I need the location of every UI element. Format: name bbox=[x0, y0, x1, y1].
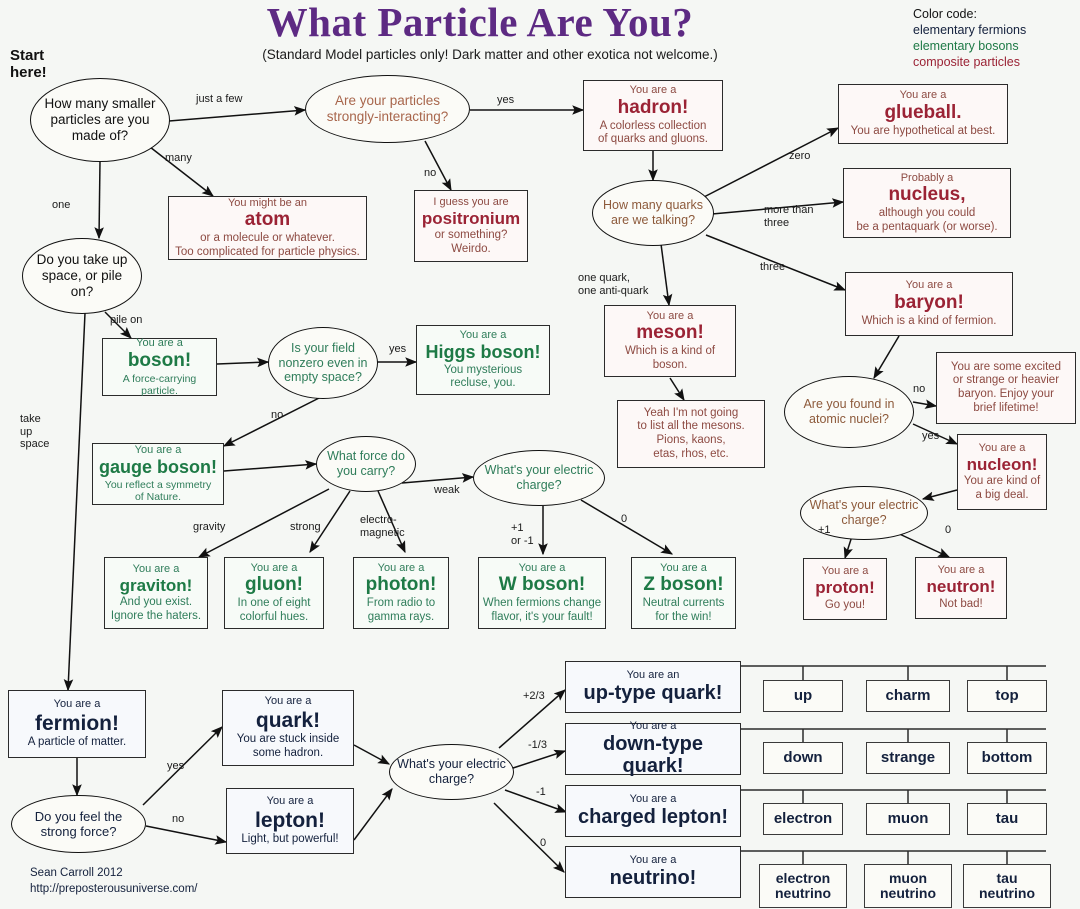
outcome-w-boson-pre: You are a bbox=[519, 562, 566, 575]
legend-item-composite-particles: composite particles bbox=[913, 54, 1026, 70]
outcome-neutron-post: Not bad! bbox=[939, 598, 982, 612]
particle-tau-neutrino-label: tauneutrino bbox=[979, 871, 1035, 902]
outcome-quark[interactable]: You are a quark! You are stuck inside so… bbox=[222, 690, 354, 766]
outcome-w-boson-title: W boson! bbox=[499, 575, 586, 596]
legend-heading: Color code: bbox=[913, 6, 1026, 22]
outcome-baryon-post: Which is a kind of fermion. bbox=[862, 315, 997, 329]
outcome-gauge-boson-pre: You are a bbox=[135, 444, 182, 457]
edge-label-charge-zero-neutrino: 0 bbox=[540, 837, 546, 850]
particle-muon-neutrino-label: muonneutrino bbox=[880, 871, 936, 902]
outcome-neutrino-pre: You are a bbox=[630, 854, 677, 867]
particle-muon-neutrino[interactable]: muonneutrino bbox=[864, 864, 952, 908]
outcome-baryon[interactable]: You are a baryon! Which is a kind of fer… bbox=[845, 272, 1013, 336]
decision-what-force[interactable]: What force do you carry? bbox=[316, 436, 416, 492]
page-title: What Particle Are You? bbox=[150, 0, 810, 46]
outcome-nucleon-pre: You are a bbox=[979, 442, 1026, 455]
outcome-proton-post: Go you! bbox=[825, 599, 865, 613]
outcome-boson-pre: You are a bbox=[136, 337, 183, 350]
outcome-gauge-boson-title: gauge boson! bbox=[99, 458, 217, 478]
outcome-photon-pre: You are a bbox=[378, 562, 425, 575]
outcome-z-boson-title: Z boson! bbox=[643, 575, 723, 596]
outcome-boson-title: boson! bbox=[128, 351, 191, 372]
edge-label-strong: strong bbox=[290, 521, 321, 534]
decision-fermion-electric-charge[interactable]: What's your electric charge? bbox=[389, 744, 514, 800]
outcome-down-type-quark-pre: You are a bbox=[630, 720, 677, 733]
edge-label-charge-zero-boson: 0 bbox=[621, 513, 627, 526]
outcome-charged-lepton-title: charged lepton! bbox=[578, 806, 728, 828]
particle-muon[interactable]: muon bbox=[866, 803, 950, 835]
credit-author: Sean Carroll 2012 bbox=[30, 866, 197, 882]
outcome-w-boson-post: When fermions change flavor, it's your f… bbox=[483, 597, 601, 624]
outcome-nucleus-title: nucleus, bbox=[888, 185, 965, 206]
outcome-nucleus-post: although you could be a pentaquark (or w… bbox=[856, 207, 997, 234]
particle-bottom[interactable]: bottom bbox=[967, 742, 1047, 774]
outcome-proton-pre: You are a bbox=[822, 565, 869, 578]
edge-label-yes-nuclei: yes bbox=[922, 430, 939, 443]
edge-label-no-lepton: no bbox=[172, 813, 184, 826]
outcome-higgs-boson-title: Higgs boson! bbox=[426, 343, 541, 363]
outcome-higgs-boson[interactable]: You are a Higgs boson! You mysterious re… bbox=[416, 325, 550, 395]
decision-take-up-space-label: Do you take up space, or pile on? bbox=[23, 252, 141, 300]
decision-boson-electric-charge-label: What's your electric charge? bbox=[474, 463, 604, 493]
outcome-excited-baryon-text: You are some excited or strange or heavi… bbox=[951, 361, 1061, 415]
credit-block: Sean Carroll 2012 http://preposterousuni… bbox=[30, 866, 197, 897]
edge-label-charge-up-type: +2/3 bbox=[523, 690, 545, 703]
outcome-up-type-quark[interactable]: You are an up-type quark! bbox=[565, 661, 741, 713]
outcome-gluon-post: In one of eight colorful hues. bbox=[238, 597, 311, 624]
outcome-photon-post: From radio to gamma rays. bbox=[367, 597, 435, 624]
outcome-quark-title: quark! bbox=[256, 709, 320, 732]
outcome-quark-post: You are stuck inside some hadron. bbox=[237, 733, 340, 760]
particle-electron-neutrino[interactable]: electronneutrino bbox=[759, 864, 847, 908]
particle-top[interactable]: top bbox=[967, 680, 1047, 712]
decision-how-many-quarks-label: How many quarks are we talking? bbox=[593, 198, 713, 228]
edge-label-many: many bbox=[165, 152, 192, 165]
outcome-excited-baryon[interactable]: You are some excited or strange or heavi… bbox=[936, 352, 1076, 424]
decision-strongly-interacting[interactable]: Are your particles strongly-interacting? bbox=[305, 75, 470, 143]
particle-strange[interactable]: strange bbox=[866, 742, 950, 774]
outcome-positronium-title: positronium bbox=[422, 210, 520, 229]
outcome-gauge-boson[interactable]: You are a gauge boson! You reflect a sym… bbox=[92, 443, 224, 505]
outcome-lepton[interactable]: You are a lepton! Light, but powerful! bbox=[226, 788, 354, 854]
edge-label-yes-higgs: yes bbox=[389, 343, 406, 356]
outcome-meson-post: Which is a kind of boson. bbox=[609, 345, 731, 372]
decision-field-nonzero-label: Is your field nonzero even in empty spac… bbox=[269, 341, 377, 385]
outcome-boson-post: A force-carrying particle. bbox=[107, 373, 212, 398]
legend-item-elementary-bosons: elementary bosons bbox=[913, 38, 1026, 54]
outcome-up-type-quark-pre: You are an bbox=[627, 669, 680, 682]
outcome-atom-title: atom bbox=[245, 210, 290, 231]
outcome-gauge-boson-post: You reflect a symmetry of Nature. bbox=[105, 479, 211, 504]
outcome-gluon-title: gluon! bbox=[245, 575, 303, 596]
outcome-meson-title: meson! bbox=[636, 323, 704, 344]
decision-strong-force[interactable]: Do you feel the strong force? bbox=[11, 795, 146, 853]
outcome-hadron-title: hadron! bbox=[618, 98, 689, 119]
outcome-hadron-post: A colorless collection of quarks and glu… bbox=[598, 120, 708, 147]
outcome-graviton-post: And you exist. Ignore the haters. bbox=[111, 596, 201, 623]
edge-label-yes-strongly-interacting: yes bbox=[497, 94, 514, 107]
edge-label-yes-quark: yes bbox=[167, 760, 184, 773]
outcome-z-boson[interactable]: You are a Z boson! Neutral currents for … bbox=[631, 557, 736, 629]
outcome-fermion-pre: You are a bbox=[54, 698, 101, 711]
decision-how-many-smaller-particles[interactable]: How many smaller particles are you made … bbox=[30, 78, 170, 162]
outcome-down-type-quark[interactable]: You are a down-type quark! bbox=[565, 723, 741, 775]
outcome-baryon-title: baryon! bbox=[894, 293, 964, 314]
outcome-gluon[interactable]: You are a gluon! In one of eight colorfu… bbox=[224, 557, 324, 629]
outcome-z-boson-post: Neutral currents for the win! bbox=[643, 597, 725, 624]
outcome-w-boson[interactable]: You are a W boson! When fermions change … bbox=[478, 557, 606, 629]
outcome-meson[interactable]: You are a meson! Which is a kind of boso… bbox=[604, 305, 736, 377]
decision-strong-force-label: Do you feel the strong force? bbox=[12, 809, 145, 840]
outcome-hadron[interactable]: You are a hadron! A colorless collection… bbox=[583, 80, 723, 151]
edge-label-charge-down-type: -1/3 bbox=[528, 739, 547, 752]
outcome-graviton-pre: You are a bbox=[133, 563, 180, 576]
outcome-nucleon-post: You are kind of a big deal. bbox=[964, 475, 1040, 502]
outcome-neutron-pre: You are a bbox=[938, 564, 985, 577]
outcome-glueball-title: glueball. bbox=[884, 103, 961, 124]
edge-label-zero-quarks: zero bbox=[789, 150, 810, 163]
outcome-graviton-title: graviton! bbox=[120, 577, 193, 596]
outcome-lepton-pre: You are a bbox=[267, 795, 314, 808]
decision-field-nonzero[interactable]: Is your field nonzero even in empty spac… bbox=[268, 327, 378, 399]
legend: Color code: elementary fermions elementa… bbox=[913, 6, 1026, 70]
outcome-nucleus-pre: Probably a bbox=[901, 172, 954, 185]
outcome-higgs-boson-post: You mysterious recluse, you. bbox=[444, 364, 522, 391]
outcome-neutron[interactable]: You are a neutron! Not bad! bbox=[915, 557, 1007, 619]
particle-down[interactable]: down bbox=[763, 742, 843, 774]
outcome-positronium-pre: I guess you are bbox=[433, 196, 508, 209]
particle-tau-neutrino[interactable]: tauneutrino bbox=[963, 864, 1051, 908]
outcome-atom[interactable]: You might be an atom or a molecule or wh… bbox=[168, 196, 367, 260]
outcome-hadron-pre: You are a bbox=[630, 84, 677, 97]
outcome-meson-pre: You are a bbox=[647, 310, 694, 323]
edge-label-electromagnetic: electro- magnetic bbox=[360, 514, 405, 539]
page-subtitle: (Standard Model particles only! Dark mat… bbox=[150, 47, 830, 62]
edge-label-weak: weak bbox=[434, 484, 460, 497]
outcome-gluon-pre: You are a bbox=[251, 562, 298, 575]
edge-label-just-a-few: just a few bbox=[196, 93, 242, 106]
outcome-photon-title: photon! bbox=[366, 575, 437, 596]
edge-label-charge-plus-minus-1: +1 or -1 bbox=[511, 522, 534, 547]
outcome-glueball-post: You are hypothetical at best. bbox=[851, 125, 996, 139]
particle-up[interactable]: up bbox=[763, 680, 843, 712]
outcome-fermion-title: fermion! bbox=[35, 712, 119, 735]
outcome-charged-lepton-pre: You are a bbox=[630, 793, 677, 806]
edge-label-three: three bbox=[760, 261, 785, 274]
edge-label-gravity: gravity bbox=[193, 521, 225, 534]
credit-url[interactable]: http://preposterousuniverse.com/ bbox=[30, 882, 197, 898]
particle-electron-neutrino-label: electronneutrino bbox=[775, 871, 831, 902]
outcome-lepton-post: Light, but powerful! bbox=[241, 833, 338, 847]
outcome-neutrino-title: neutrino! bbox=[610, 867, 697, 889]
decision-what-force-label: What force do you carry? bbox=[317, 449, 415, 479]
outcome-nucleus[interactable]: Probably a nucleus, although you could b… bbox=[843, 168, 1011, 238]
edge-label-charge-plus-1: +1 bbox=[818, 524, 831, 537]
particle-electron[interactable]: electron bbox=[763, 803, 843, 835]
outcome-proton-title: proton! bbox=[815, 579, 874, 598]
outcome-fermion[interactable]: You are a fermion! A particle of matter. bbox=[8, 690, 146, 758]
outcome-neutrino[interactable]: You are a neutrino! bbox=[565, 846, 741, 898]
outcome-glueball[interactable]: You are a glueball. You are hypothetical… bbox=[838, 84, 1008, 144]
edge-label-no-nuclei: no bbox=[913, 383, 925, 396]
outcome-higgs-boson-pre: You are a bbox=[460, 329, 507, 342]
outcome-nucleon-title: nucleon! bbox=[967, 456, 1038, 475]
edge-label-no-strongly-interacting: no bbox=[424, 167, 436, 180]
edge-label-more-than-three: more than three bbox=[764, 204, 814, 229]
outcome-positronium[interactable]: I guess you are positronium or something… bbox=[414, 190, 528, 262]
edge-label-no-higgs: no bbox=[271, 409, 283, 422]
edge-label-charge-minus-1: -1 bbox=[536, 786, 546, 799]
decision-how-many-smaller-particles-label: How many smaller particles are you made … bbox=[31, 96, 169, 144]
legend-item-elementary-fermions: elementary fermions bbox=[913, 22, 1026, 38]
outcome-fermion-post: A particle of matter. bbox=[28, 736, 126, 750]
flowchart-canvas: What Particle Are You? (Standard Model p… bbox=[0, 0, 1080, 909]
decision-boson-electric-charge[interactable]: What's your electric charge? bbox=[473, 450, 605, 506]
outcome-positronium-post: or something? Weirdo. bbox=[435, 229, 508, 256]
decision-take-up-space[interactable]: Do you take up space, or pile on? bbox=[22, 238, 142, 314]
outcome-nucleon[interactable]: You are a nucleon! You are kind of a big… bbox=[957, 434, 1047, 510]
edge-label-take-up-space: take up space bbox=[20, 413, 49, 451]
outcome-meson-note-text: Yeah I'm not going to list all the meson… bbox=[637, 407, 744, 461]
outcome-proton[interactable]: You are a proton! Go you! bbox=[803, 558, 887, 620]
start-here-label: Start here! bbox=[10, 48, 47, 82]
outcome-quark-pre: You are a bbox=[265, 695, 312, 708]
edge-label-pile-on: pile on bbox=[110, 314, 142, 327]
edge-label-charge-zero-nucleon: 0 bbox=[945, 524, 951, 537]
outcome-baryon-pre: You are a bbox=[906, 279, 953, 292]
particle-tau[interactable]: tau bbox=[967, 803, 1047, 835]
outcome-down-type-quark-title: down-type quark! bbox=[570, 733, 736, 777]
particle-charm[interactable]: charm bbox=[866, 680, 950, 712]
outcome-z-boson-pre: You are a bbox=[660, 562, 707, 575]
outcome-atom-post: or a molecule or whatever. Too complicat… bbox=[175, 232, 360, 259]
decision-found-in-atomic-nuclei-label: Are you found in atomic nuclei? bbox=[785, 397, 913, 427]
outcome-graviton[interactable]: You are a graviton! And you exist. Ignor… bbox=[104, 557, 208, 629]
outcome-up-type-quark-title: up-type quark! bbox=[584, 682, 723, 704]
edge-label-one: one bbox=[52, 199, 70, 212]
outcome-boson[interactable]: You are a boson! A force-carrying partic… bbox=[102, 338, 217, 396]
edge-label-one-quark-one-antiquark: one quark, one anti-quark bbox=[578, 272, 648, 297]
outcome-atom-pre: You might be an bbox=[228, 197, 307, 210]
outcome-meson-note[interactable]: Yeah I'm not going to list all the meson… bbox=[617, 400, 765, 468]
outcome-lepton-title: lepton! bbox=[255, 809, 325, 832]
outcome-photon[interactable]: You are a photon! From radio to gamma ra… bbox=[353, 557, 449, 629]
outcome-charged-lepton[interactable]: You are a charged lepton! bbox=[565, 785, 741, 837]
decision-strongly-interacting-label: Are your particles strongly-interacting? bbox=[306, 93, 469, 125]
outcome-neutron-title: neutron! bbox=[927, 578, 996, 597]
decision-how-many-quarks[interactable]: How many quarks are we talking? bbox=[592, 180, 714, 246]
decision-found-in-atomic-nuclei[interactable]: Are you found in atomic nuclei? bbox=[784, 376, 914, 448]
decision-fermion-electric-charge-label: What's your electric charge? bbox=[390, 757, 513, 787]
outcome-glueball-pre: You are a bbox=[900, 89, 947, 102]
